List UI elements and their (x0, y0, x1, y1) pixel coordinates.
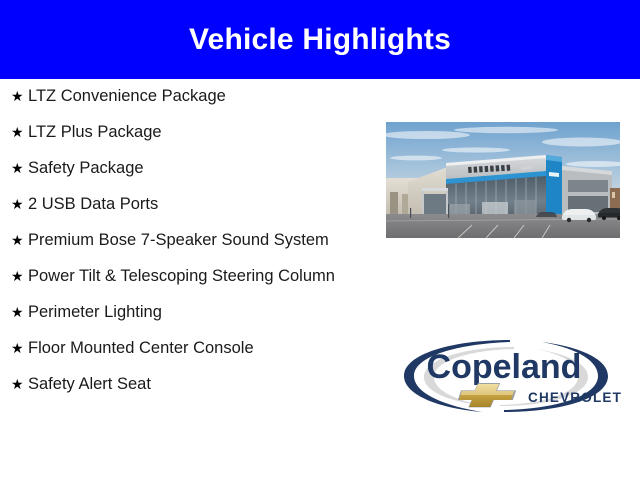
feature-label: Power Tilt & Telescoping Steering Column (28, 266, 336, 287)
star-bullet-icon: ★ (6, 230, 28, 251)
list-item: ★ Power Tilt & Telescoping Steering Colu… (6, 266, 336, 287)
list-item: ★ Floor Mounted Center Console (6, 338, 336, 359)
chevrolet-bowtie-icon (458, 383, 516, 407)
header-banner: Vehicle Highlights (0, 0, 640, 79)
list-item: ★ 2 USB Data Ports (6, 194, 336, 215)
logo-wordmark-text: Copeland (427, 348, 582, 386)
copeland-chevrolet-logo: Copeland CHEVROLET (386, 334, 622, 418)
feature-label: LTZ Convenience Package (28, 86, 336, 107)
list-item: ★ Premium Bose 7-Speaker Sound System (6, 230, 336, 251)
feature-label: Safety Alert Seat (28, 374, 336, 395)
list-item: ★ Perimeter Lighting (6, 302, 336, 323)
list-item: ★ Safety Alert Seat (6, 374, 336, 395)
feature-label: Safety Package (28, 158, 336, 179)
star-bullet-icon: ★ (6, 266, 28, 287)
list-item: ★ Safety Package (6, 158, 336, 179)
star-bullet-icon: ★ (6, 374, 28, 395)
feature-label: Perimeter Lighting (28, 302, 336, 323)
star-bullet-icon: ★ (6, 338, 28, 359)
list-item: ★ LTZ Convenience Package (6, 86, 336, 107)
list-item: ★ LTZ Plus Package (6, 122, 336, 143)
dealership-photo-graphic (386, 122, 620, 238)
dealership-exterior-photo (386, 122, 620, 238)
star-bullet-icon: ★ (6, 122, 28, 143)
star-bullet-icon: ★ (6, 86, 28, 107)
vehicle-features-list: ★ LTZ Convenience Package ★ LTZ Plus Pac… (6, 86, 336, 395)
star-bullet-icon: ★ (6, 158, 28, 179)
slide-vehicle-highlights: Vehicle Highlights ★ LTZ Convenience Pac… (0, 0, 640, 480)
star-bullet-icon: ★ (6, 302, 28, 323)
content-area: ★ LTZ Convenience Package ★ LTZ Plus Pac… (0, 79, 640, 480)
feature-label: 2 USB Data Ports (28, 194, 336, 215)
feature-label: Floor Mounted Center Console (28, 338, 336, 359)
feature-label: Premium Bose 7-Speaker Sound System (28, 230, 336, 251)
star-bullet-icon: ★ (6, 194, 28, 215)
feature-label: LTZ Plus Package (28, 122, 336, 143)
logo-brand-text: CHEVROLET (528, 390, 622, 405)
copeland-logo-graphic: Copeland CHEVROLET (386, 334, 622, 418)
page-title: Vehicle Highlights (189, 25, 451, 55)
